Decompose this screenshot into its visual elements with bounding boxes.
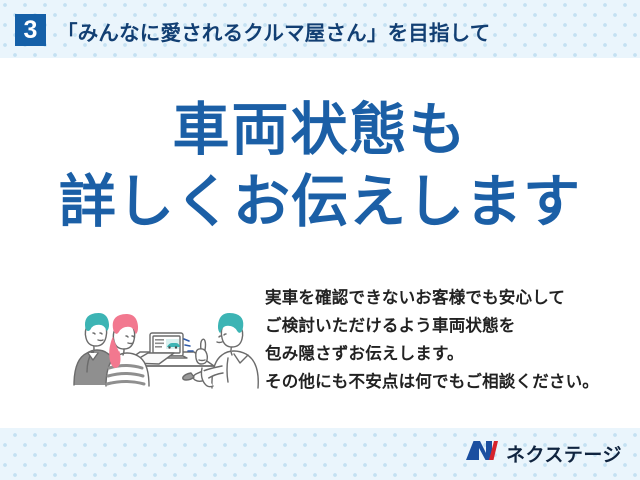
consultation-illustration-svg xyxy=(62,280,262,400)
brand-name: ネクステージ xyxy=(506,440,622,467)
headline: 車両状態も 詳しくお伝えします xyxy=(0,94,640,238)
slide-header: 3 「みんなに愛されるクルマ屋さん」を目指して xyxy=(0,0,640,58)
slide-footer: ネクステージ xyxy=(0,428,640,480)
consultation-illustration xyxy=(62,280,262,400)
brand-lockup: ネクステージ xyxy=(465,438,622,468)
step-number-badge: 3 xyxy=(15,14,46,46)
body-copy-line-3: 包み隠さずお伝えします。 xyxy=(265,340,599,368)
body-copy-line-4: その他にも不安点は何でもご相談ください。 xyxy=(265,368,599,396)
slide-canvas: 3 「みんなに愛されるクルマ屋さん」を目指して 車両状態も 詳しくお伝えします xyxy=(0,0,640,480)
header-title: 「みんなに愛されるクルマ屋さん」を目指して xyxy=(57,16,490,46)
headline-line-2: 詳しくお伝えします xyxy=(0,166,640,238)
content-panel: 車両状態も 詳しくお伝えします xyxy=(0,58,640,428)
body-copy-line-1: 実車を確認できないお客様でも安心して xyxy=(265,284,599,312)
n-logo-icon xyxy=(465,439,499,467)
body-copy: 実車を確認できないお客様でも安心して ご検討いただけるよう車両状態を 包み隠さず… xyxy=(265,284,599,396)
body-copy-line-2: ご検討いただけるよう車両状態を xyxy=(265,312,599,340)
headline-line-1: 車両状態も xyxy=(0,94,640,166)
